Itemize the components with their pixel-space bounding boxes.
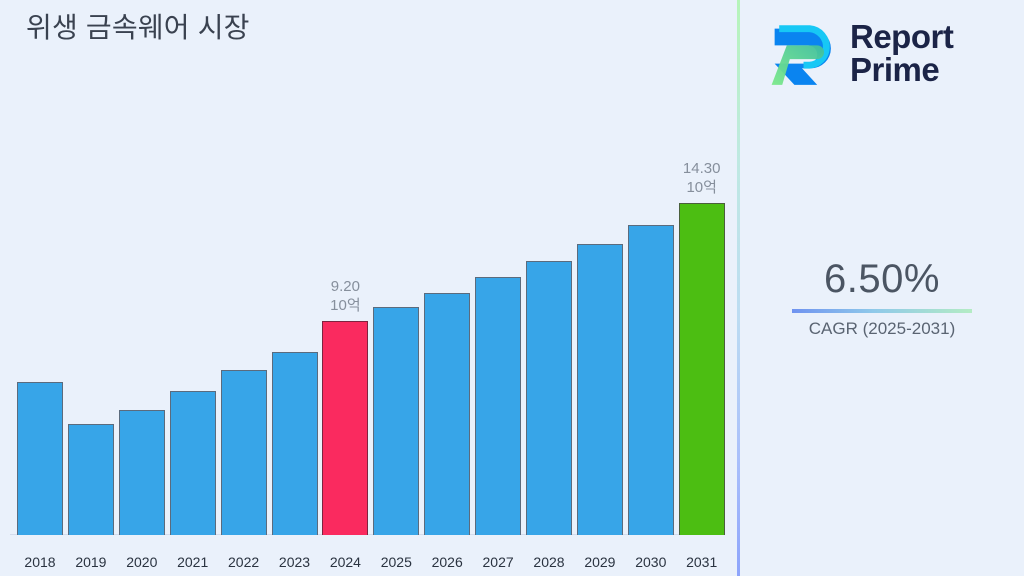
bars-layer: 2018201920202021202220239.20 10억20242025…: [0, 110, 737, 576]
bar-2018[interactable]: [17, 382, 63, 535]
brand-name-line2: Prime: [850, 53, 953, 86]
brand-name-line1: Report: [850, 18, 953, 55]
bar-2024[interactable]: [322, 321, 368, 535]
cagr-caption: CAGR (2025-2031): [740, 317, 1024, 341]
bar-2029[interactable]: [577, 244, 623, 535]
bar-2026[interactable]: [424, 293, 470, 535]
bar-value-label-2031: 14.30 10억: [667, 159, 737, 197]
cagr-block: 6.50% CAGR (2025-2031): [740, 255, 1024, 341]
bar-2021[interactable]: [170, 391, 216, 535]
page-title: 위생 금속웨어 시장: [26, 8, 250, 48]
bar-2023[interactable]: [272, 352, 318, 535]
brand-logo: Report Prime: [764, 12, 1008, 94]
bar-2019[interactable]: [68, 424, 114, 535]
report-prime-logo-icon: [764, 15, 840, 91]
bar-2027[interactable]: [475, 277, 521, 535]
right-panel: Report Prime 6.50% CAGR (2025-2031): [740, 0, 1024, 576]
bar-2022[interactable]: [221, 370, 267, 535]
x-tick-2031: 2031: [669, 554, 735, 570]
cagr-value: 6.50%: [740, 255, 1024, 303]
cagr-rule: [792, 309, 972, 313]
bar-2031[interactable]: [679, 203, 725, 535]
brand-wordmark: Report Prime: [850, 20, 953, 86]
bar-value-label-2024: 9.20 10억: [310, 277, 380, 315]
bar-2025[interactable]: [373, 307, 419, 535]
bar-2028[interactable]: [526, 261, 572, 535]
bar-2020[interactable]: [119, 410, 165, 535]
bar-2030[interactable]: [628, 225, 674, 535]
bar-chart: 2018201920202021202220239.20 10억20242025…: [0, 110, 737, 576]
infographic-root: 위생 금속웨어 시장 2018201920202021202220239.20 …: [0, 0, 1024, 576]
